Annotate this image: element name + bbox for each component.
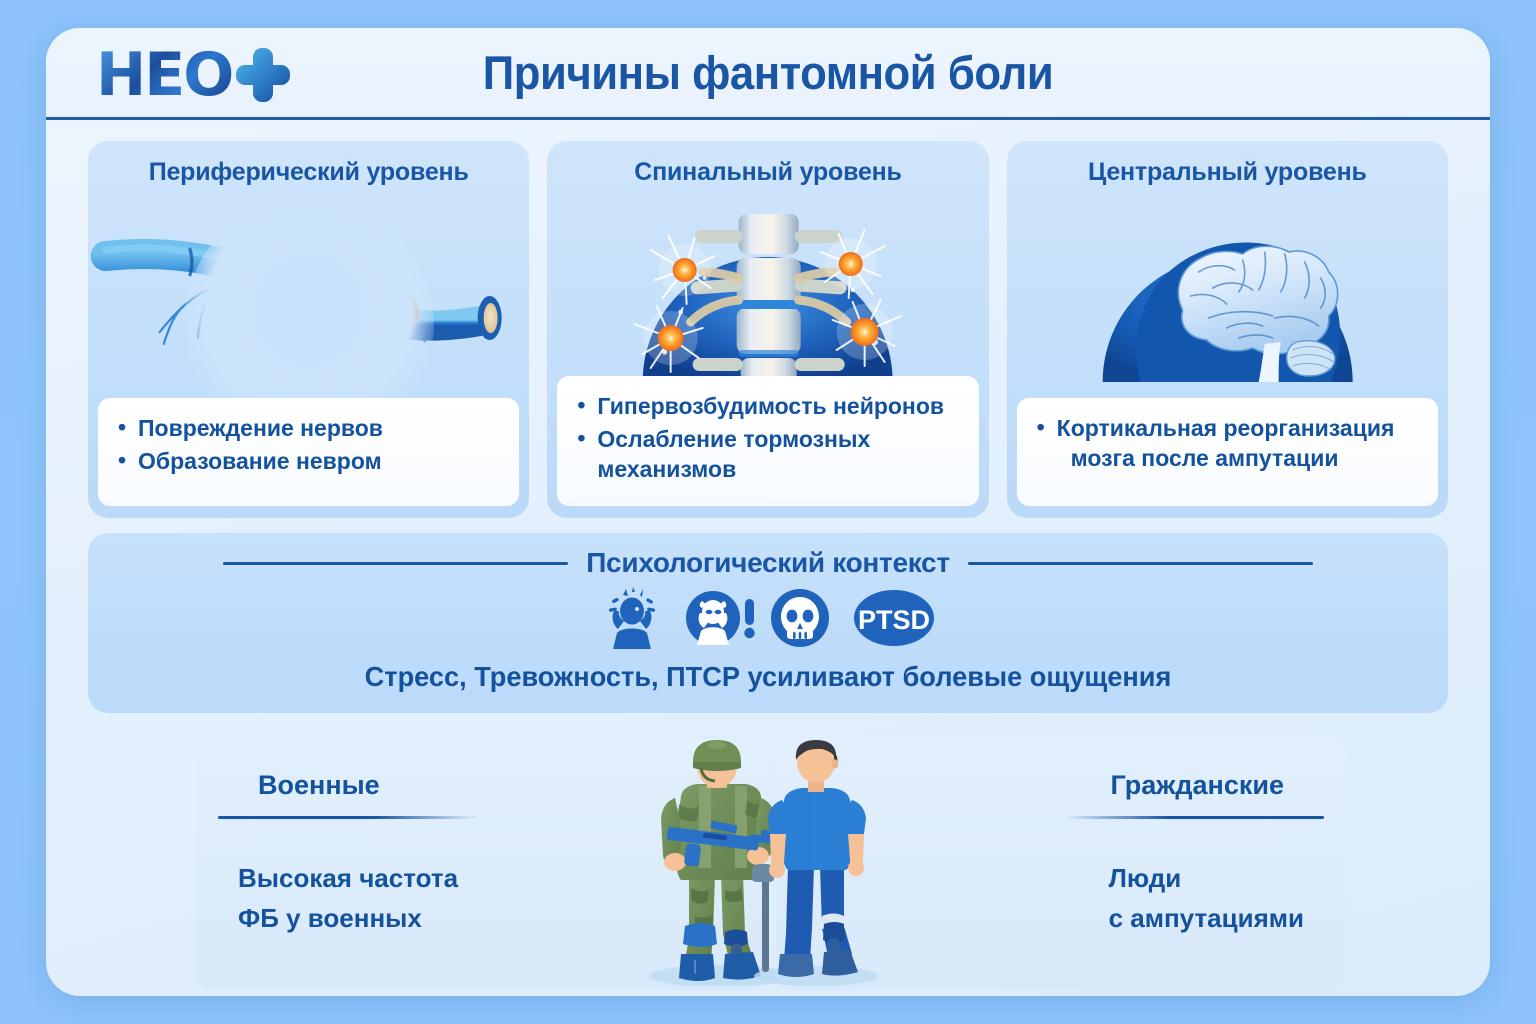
list-item-line2: механизмов: [597, 456, 736, 482]
page-title: Причины фантомной боли: [97, 45, 1440, 100]
level-card-bullets: Кортикальная реорганизация мозга после а…: [1017, 398, 1438, 506]
civilian-with-cane-and-prosthetic-figure: [716, 738, 906, 986]
level-card-peripheral: Периферический уровень: [88, 140, 529, 518]
group-title: Военные: [258, 770, 380, 801]
group-desc-line2: ФБ у военных: [238, 898, 458, 938]
brain-head-illustration: [1007, 192, 1448, 382]
psychological-caption: Стресс, Тревожность, ПТСР усиливают боле…: [108, 661, 1427, 693]
rule-left: [223, 562, 568, 565]
main-panel: НЕО Причины фантомной боли Периферически…: [46, 28, 1490, 996]
psychological-icons-row: PTSD: [88, 587, 1448, 649]
list-item: Гипервозбудимость нейронов: [575, 392, 960, 422]
group-desc-line2: с ампутациями: [1109, 898, 1304, 938]
list-item: Ослабление тормозных механизмов: [575, 425, 960, 485]
damaged-nerve-neuroma-illustration: [88, 192, 529, 382]
level-card-spinal: Спинальный уровень: [547, 140, 988, 518]
ptsd-badge-icon: PTSD: [853, 587, 935, 649]
psychological-context-section: Психологический контекст: [88, 533, 1448, 713]
list-item: Образование невром: [116, 447, 501, 477]
level-card-bullets: Повреждение нервов Образование невром: [98, 398, 519, 506]
level-card-title: Периферический уровень: [88, 158, 529, 187]
list-item-line1: Ослабление тормозных: [597, 426, 870, 452]
anxious-person-exclamation-icon: [685, 587, 747, 649]
level-card-title: Спинальный уровень: [547, 158, 988, 187]
stressed-person-icon: [601, 587, 663, 649]
group-description: Высокая частота ФБ у военных: [238, 858, 458, 939]
affected-groups-section: Военные Высокая частота ФБ у военных: [196, 740, 1346, 990]
divider: [218, 816, 478, 819]
list-item-line1: Кортикальная реорганизация: [1057, 415, 1395, 441]
group-desc-line1: Высокая частота: [238, 858, 458, 898]
spinal-cord-neurons-illustration: [547, 192, 988, 382]
ptsd-label: PTSD: [858, 605, 930, 635]
rule-right: [968, 562, 1313, 565]
level-card-central: Центральный уровень: [1007, 140, 1448, 518]
group-card-civilian: Гражданские Люди с ампутациями: [776, 740, 1346, 990]
levels-row: Периферический уровень: [88, 140, 1448, 518]
infographic-root: НЕО Причины фантомной боли Периферически…: [0, 0, 1536, 1024]
level-card-title: Центральный уровень: [1007, 158, 1448, 187]
divider: [1064, 816, 1324, 819]
list-item: Кортикальная реорганизация мозга после а…: [1035, 414, 1420, 474]
level-card-bullets: Гипервозбудимость нейронов Ослабление то…: [557, 376, 978, 506]
psychological-context-header: Психологический контекст: [88, 547, 1448, 579]
group-title: Гражданские: [1110, 770, 1284, 801]
group-desc-line1: Люди: [1109, 858, 1304, 898]
group-description: Люди с ампутациями: [1109, 858, 1304, 939]
group-card-military: Военные Высокая частота ФБ у военных: [196, 740, 766, 990]
list-item-line2: мозга после ампутации: [1057, 444, 1420, 474]
section-title: Психологический контекст: [586, 547, 950, 579]
header-bar: НЕО Причины фантомной боли: [46, 28, 1490, 120]
skull-icon: [769, 587, 831, 649]
list-item: Повреждение нервов: [116, 414, 501, 444]
